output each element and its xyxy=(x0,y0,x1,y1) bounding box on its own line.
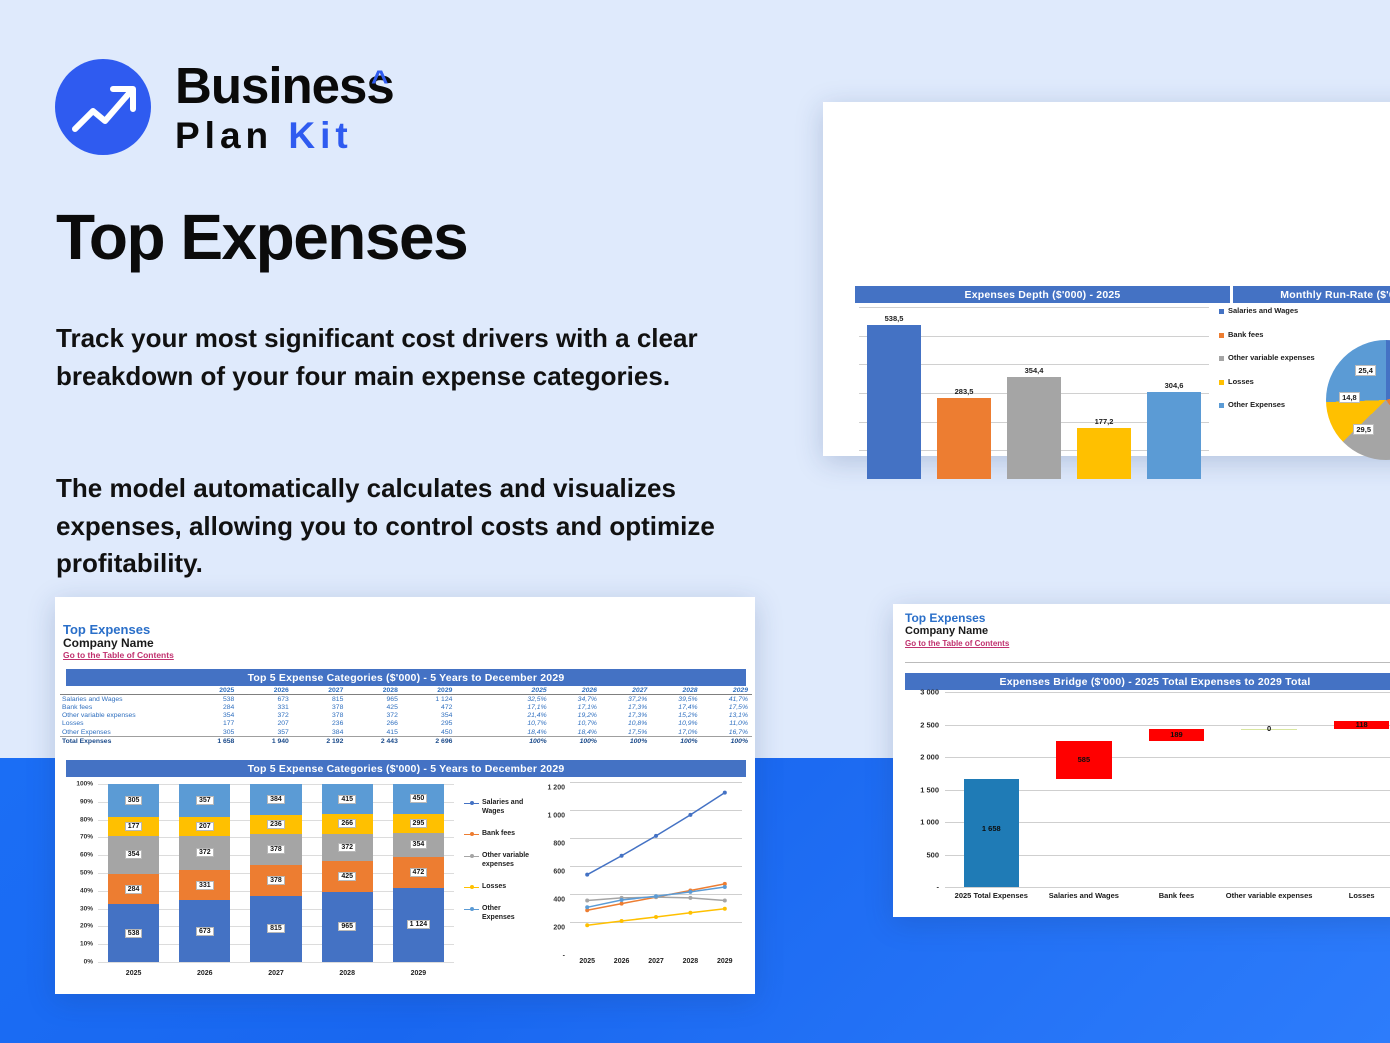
stack-segment: 673 xyxy=(179,900,230,962)
arrow-trend-up-icon xyxy=(55,59,151,155)
table-row: Losses17720723626629510,7%10,7%10,8%10,9… xyxy=(60,720,752,728)
gridline xyxy=(859,307,1209,308)
legend-swatch xyxy=(464,831,479,838)
legend-label: Salaries and Wages xyxy=(482,798,534,816)
table-cell-pct: 17,0% xyxy=(651,728,701,737)
circumflex-accent-icon: ^ xyxy=(371,54,388,110)
table-cell-pct: 16,7% xyxy=(702,728,752,737)
segment-value-label: 357 xyxy=(196,796,214,805)
expenses-depth-plot: 538,5283,5354,4177,2304,6 xyxy=(859,307,1209,479)
legend-item: Other Expenses xyxy=(1219,400,1324,410)
table-cell: 673 xyxy=(240,695,295,704)
axis-tick-label: 2025 Total Expenses xyxy=(945,891,1038,900)
brand-name-accent: Kit xyxy=(288,115,352,156)
table-cell: 425 xyxy=(349,703,404,711)
table-cell: 378 xyxy=(295,712,350,720)
table-cell-pct: 100% xyxy=(551,737,601,746)
axis-tick-label: 1 000 xyxy=(920,818,939,827)
axis-tick-label: 2 000 xyxy=(920,753,939,762)
table-cell: 354 xyxy=(404,712,459,720)
stack-segment: 450 xyxy=(393,784,444,814)
stacked-plot-area: 5382843541773052025673331372207357202681… xyxy=(98,784,454,962)
table-col-header: 2027 xyxy=(601,686,651,695)
table-cell-pct: 39,5% xyxy=(651,695,701,704)
expenses-depth-legend: Salaries and WagesBank feesOther variabl… xyxy=(1219,306,1324,424)
hero-paragraph-2: The model automatically calculates and v… xyxy=(56,470,736,583)
bar-value-label: 177,2 xyxy=(1069,417,1139,426)
stack-segment: 472 xyxy=(393,857,444,888)
segment-value-label: 372 xyxy=(196,848,214,857)
stack-segment: 1 124 xyxy=(393,888,444,962)
legend-swatch xyxy=(464,906,479,913)
legend-swatch xyxy=(1219,333,1224,338)
axis-tick-label: 2029 xyxy=(708,958,742,965)
bar-value-label: 304,6 xyxy=(1139,381,1209,390)
table-cell: 384 xyxy=(295,728,350,737)
stack-segment: 357 xyxy=(179,784,230,817)
expenses-bridge-chart-title: Expenses Bridge ($'000) - 2025 Total Exp… xyxy=(905,673,1390,690)
table-total-row: Total Expenses1 6581 9402 1922 4432 6961… xyxy=(60,737,752,746)
axis-tick-label: 30% xyxy=(80,905,93,912)
table-cell-pct: 17,5% xyxy=(702,703,752,711)
row-label: Total Expenses xyxy=(60,737,186,746)
axis-tick-label: Other variable expenses xyxy=(1223,891,1316,900)
gridline xyxy=(945,757,1390,758)
table-cell: 354 xyxy=(186,712,241,720)
table-cell: 372 xyxy=(349,712,404,720)
stacked-column: 815378378236384 xyxy=(250,784,301,962)
segment-value-label: 1 124 xyxy=(407,920,431,929)
legend-label: Other Expenses xyxy=(1228,400,1285,410)
sheet-company-right: Company Name xyxy=(905,625,988,637)
segment-value-label: 354 xyxy=(125,850,143,859)
legend-swatch xyxy=(1219,403,1224,408)
stack-segment: 236 xyxy=(250,815,301,834)
axis-tick-label: 600 xyxy=(553,869,565,876)
pie-slice-label: 25,4 xyxy=(1355,365,1376,376)
legend-swatch xyxy=(464,884,479,891)
segment-value-label: 673 xyxy=(196,927,214,936)
stack-segment: 378 xyxy=(250,865,301,896)
bar-value-label: 538,5 xyxy=(859,314,929,323)
line-plot-area: 20252026202720282029 xyxy=(570,782,742,950)
pie-slice-label: 29,5 xyxy=(1353,424,1374,435)
stack-segment: 538 xyxy=(108,904,159,962)
table-cell-pct: 34,7% xyxy=(551,695,601,704)
table-cell-pct: 100% xyxy=(702,737,752,746)
table-cell-pct: 100% xyxy=(651,737,701,746)
stacked-y-axis: 0%10%20%30%40%50%60%70%80%90%100% xyxy=(62,780,96,962)
row-label: Other variable expenses xyxy=(60,712,186,720)
legend-label: Losses xyxy=(482,882,506,891)
table-col-header: 2026 xyxy=(240,686,295,695)
table-cell: 331 xyxy=(240,703,295,711)
table-cell: 372 xyxy=(240,712,295,720)
bar xyxy=(937,398,990,479)
segment-value-label: 177 xyxy=(125,822,143,831)
table-col-header: 2027 xyxy=(295,686,350,695)
legend-item: Salaries and Wages xyxy=(1219,306,1324,316)
legend-item: Bank fees xyxy=(1219,330,1324,340)
table-cell-pct: 19,2% xyxy=(551,712,601,720)
stacked-column: 1 124472354295450 xyxy=(393,784,444,962)
axis-tick-label: 40% xyxy=(80,887,93,894)
legend-item: Other variable expenses xyxy=(1219,353,1324,363)
stack-segment: 425 xyxy=(322,861,373,892)
segment-value-label: 207 xyxy=(196,822,214,831)
axis-tick-label: 2025 xyxy=(570,958,604,965)
legend-swatch xyxy=(464,853,479,860)
axis-tick-label: 2 500 xyxy=(920,720,939,729)
segment-value-label: 354 xyxy=(410,840,428,849)
table-cell: 472 xyxy=(404,703,459,711)
axis-tick-label: 800 xyxy=(553,841,565,848)
axis-tick-label: Salaries and Wages xyxy=(1038,891,1131,900)
table-row: Other Expenses30535738441545018,4%18,4%1… xyxy=(60,728,752,737)
stack-segment: 266 xyxy=(322,814,373,833)
segment-value-label: 295 xyxy=(410,819,428,828)
segment-value-label: 384 xyxy=(267,795,285,804)
top5-stacked-chart: 0%10%20%30%40%50%60%70%80%90%100% 538284… xyxy=(62,780,462,980)
segment-value-label: 472 xyxy=(410,868,428,877)
table-col-header: 2028 xyxy=(349,686,404,695)
table-cell-pct: 41,7% xyxy=(702,695,752,704)
axis-tick-label: Losses xyxy=(1315,891,1390,900)
waterfall-value-label: 585 xyxy=(1038,755,1131,764)
line-series-svg xyxy=(570,782,742,950)
stack-segment: 415 xyxy=(322,784,373,814)
legend-label: Bank fees xyxy=(1228,330,1263,340)
table-cell-pct: 17,1% xyxy=(500,703,550,711)
segment-value-label: 538 xyxy=(125,929,143,938)
waterfall-value-label: 0 xyxy=(1223,724,1316,733)
table-cell: 236 xyxy=(295,720,350,728)
table-cell-pct: 17,3% xyxy=(601,712,651,720)
segment-value-label: 378 xyxy=(267,876,285,885)
legend-item: Salaries and Wages xyxy=(464,798,534,816)
row-label: Other Expenses xyxy=(60,728,186,737)
legend-label: Other Expenses xyxy=(482,904,534,922)
table-cell-pct: 17,4% xyxy=(651,703,701,711)
axis-tick-label: 1 500 xyxy=(920,785,939,794)
axis-tick-label: Bank fees xyxy=(1130,891,1223,900)
table-cell: 266 xyxy=(349,720,404,728)
stack-segment: 815 xyxy=(250,896,301,962)
stack-segment: 177 xyxy=(108,817,159,836)
bar xyxy=(1077,428,1130,479)
sheet-company-left: Company Name xyxy=(63,636,154,650)
axis-tick-label: 70% xyxy=(80,834,93,841)
legend-label: Salaries and Wages xyxy=(1228,306,1298,316)
segment-value-label: 815 xyxy=(267,924,285,933)
table-col-header: 2029 xyxy=(404,686,459,695)
top5-line-chart: Salaries and WagesBank feesOther variabl… xyxy=(462,776,750,984)
stack-segment: 372 xyxy=(179,836,230,870)
segment-value-label: 236 xyxy=(267,820,285,829)
table-cell: 305 xyxy=(186,728,241,737)
axis-tick-label: 50% xyxy=(80,870,93,877)
table-cell-pct: 10,9% xyxy=(651,720,701,728)
stack-segment: 305 xyxy=(108,784,159,817)
monthly-run-rate-pie: 44,923,629,514,825,4 xyxy=(1326,340,1390,460)
expenses-bridge-chart: -5001 0001 5002 0002 5003 000 1 6582025 … xyxy=(903,692,1390,910)
table-cell-pct: 15,2% xyxy=(651,712,701,720)
row-label: Losses xyxy=(60,720,186,728)
table-cell: 378 xyxy=(295,703,350,711)
page-title: Top Expenses xyxy=(56,200,467,274)
top5-table-title: Top 5 Expense Categories ($'000) - 5 Yea… xyxy=(66,669,746,686)
segment-value-label: 425 xyxy=(338,872,356,881)
axis-tick-label: 3 000 xyxy=(920,688,939,697)
axis-tick-label: - xyxy=(563,953,565,960)
legend-swatch xyxy=(1219,380,1224,385)
axis-tick-label: 2027 xyxy=(240,970,311,977)
axis-tick-label: 200 xyxy=(553,925,565,932)
axis-tick-label: 2029 xyxy=(383,970,454,977)
table-cell: 415 xyxy=(349,728,404,737)
table-row: Bank fees28433137842547217,1%17,1%17,3%1… xyxy=(60,703,752,711)
table-cell: 1 940 xyxy=(240,737,295,746)
bar xyxy=(1147,392,1200,479)
table-cell: 284 xyxy=(186,703,241,711)
table-cell: 1 124 xyxy=(404,695,459,704)
table-cell-pct: 18,4% xyxy=(551,728,601,737)
axis-tick-label: 2026 xyxy=(169,970,240,977)
toc-link-left[interactable]: Go to the Table of Contents xyxy=(63,650,174,660)
top5-stacked-chart-title: Top 5 Expense Categories ($'000) - 5 Yea… xyxy=(66,760,746,777)
stacked-column: 538284354177305 xyxy=(108,784,159,962)
segment-value-label: 305 xyxy=(125,796,143,805)
segment-value-label: 372 xyxy=(338,843,356,852)
sheet-title-right: Top Expenses xyxy=(905,611,985,625)
table-cell: 357 xyxy=(240,728,295,737)
table-cell: 450 xyxy=(404,728,459,737)
stack-segment: 378 xyxy=(250,834,301,865)
table-cell: 538 xyxy=(186,695,241,704)
axis-tick-label: 2027 xyxy=(639,958,673,965)
segment-value-label: 284 xyxy=(125,885,143,894)
legend-item: Losses xyxy=(1219,377,1324,387)
table-col-header: 2025 xyxy=(186,686,241,695)
bar xyxy=(1007,377,1060,479)
stack-segment: 354 xyxy=(393,833,444,856)
axis-tick-label: 1 200 xyxy=(547,785,565,792)
bridge-plot-area: 1 6582025 Total Expenses585Salaries and … xyxy=(945,692,1390,887)
table-cell-pct: 21,4% xyxy=(500,712,550,720)
gridline xyxy=(945,692,1390,693)
stack-segment: 284 xyxy=(108,874,159,904)
legend-item: Other Expenses xyxy=(464,904,534,922)
legend-item: Bank fees xyxy=(464,829,534,838)
axis-tick-label: - xyxy=(937,883,940,892)
table-cell-pct: 100% xyxy=(601,737,651,746)
sheet-title-left: Top Expenses xyxy=(63,622,150,637)
table-cell-pct: 17,5% xyxy=(601,728,651,737)
table-cell-pct: 100% xyxy=(500,737,550,746)
table-row: Other variable expenses35437237837235421… xyxy=(60,712,752,720)
toc-link-right[interactable]: Go to the Table of Contents xyxy=(905,639,1009,648)
axis-tick-label: 90% xyxy=(80,798,93,805)
monthly-run-rate-chart-title: Monthly Run-Rate ($'000) xyxy=(1233,286,1390,303)
table-cell: 295 xyxy=(404,720,459,728)
axis-tick-label: 2026 xyxy=(604,958,638,965)
axis-tick-label: 0% xyxy=(84,959,93,966)
bridge-y-axis: -5001 0001 5002 0002 5003 000 xyxy=(903,692,943,887)
stack-segment: 295 xyxy=(393,814,444,833)
table-cell: 815 xyxy=(295,695,350,704)
row-label: Bank fees xyxy=(60,703,186,711)
waterfall-value-label: 1 658 xyxy=(945,824,1038,833)
axis-tick-label: 400 xyxy=(553,897,565,904)
segment-value-label: 450 xyxy=(410,794,428,803)
legend-swatch xyxy=(1219,309,1224,314)
stacked-column: 965425372266415 xyxy=(322,784,373,962)
gridline xyxy=(945,887,1390,888)
stack-segment: 965 xyxy=(322,892,373,962)
hero-paragraph-1: Track your most significant cost drivers… xyxy=(56,320,736,395)
axis-tick-label: 2028 xyxy=(673,958,707,965)
table-cell-pct: 10,8% xyxy=(601,720,651,728)
segment-value-label: 965 xyxy=(338,922,356,931)
stacked-column: 673331372207357 xyxy=(179,784,230,962)
axis-tick-label: 2028 xyxy=(312,970,383,977)
legend-label: Bank fees xyxy=(482,829,515,838)
gridline xyxy=(98,962,454,963)
table-row: Salaries and Wages5386738159651 12432,5%… xyxy=(60,695,752,704)
table-cell: 2 192 xyxy=(295,737,350,746)
table-cell-pct: 10,7% xyxy=(551,720,601,728)
table-col-header: 2025 xyxy=(500,686,550,695)
legend-label: Other variable expenses xyxy=(1228,353,1315,363)
bar-value-label: 283,5 xyxy=(929,387,999,396)
stack-segment: 354 xyxy=(108,836,159,874)
row-label: Salaries and Wages xyxy=(60,695,186,704)
top5-expense-table: 2025202620272028202920252026202720282029… xyxy=(60,686,752,745)
table-cell-pct: 18,4% xyxy=(500,728,550,737)
table-cell-pct: 10,7% xyxy=(500,720,550,728)
line-chart-legend: Salaries and WagesBank feesOther variabl… xyxy=(464,798,534,935)
waterfall-value-label: 189 xyxy=(1130,730,1223,739)
brand-name-line2: Plan Kit xyxy=(175,114,394,158)
stack-segment: 384 xyxy=(250,784,301,815)
sheet-divider xyxy=(905,662,1390,663)
stack-segment: 372 xyxy=(322,834,373,861)
table-col-header: 2029 xyxy=(702,686,752,695)
table-cell: 2 443 xyxy=(349,737,404,746)
table-cell: 1 658 xyxy=(186,737,241,746)
segment-value-label: 415 xyxy=(338,795,356,804)
axis-tick-label: 2025 xyxy=(98,970,169,977)
segment-value-label: 378 xyxy=(267,845,285,854)
legend-swatch xyxy=(1219,356,1224,361)
table-cell-pct: 13,1% xyxy=(702,712,752,720)
stack-segment: 207 xyxy=(179,817,230,836)
legend-item: Other variable expenses xyxy=(464,851,534,869)
brand-name-line1: Business ^ xyxy=(175,58,394,114)
expenses-depth-chart-title: Expenses Depth ($'000) - 2025 xyxy=(855,286,1230,303)
legend-swatch xyxy=(464,800,479,807)
axis-tick-label: 80% xyxy=(80,816,93,823)
axis-tick-label: 1 000 xyxy=(547,813,565,820)
axis-tick-label: 100% xyxy=(76,781,93,788)
axis-tick-label: 500 xyxy=(926,850,939,859)
expenses-depth-card: Expenses Depth ($'000) - 2025 Monthly Ru… xyxy=(823,102,1390,456)
table-cell: 965 xyxy=(349,695,404,704)
table-col-header: 2028 xyxy=(651,686,701,695)
legend-item: Losses xyxy=(464,882,534,891)
axis-tick-label: 10% xyxy=(80,941,93,948)
table-cell-pct: 37,2% xyxy=(601,695,651,704)
waterfall-value-label: 118 xyxy=(1315,720,1390,729)
table-cell-pct: 32,5% xyxy=(500,695,550,704)
table-cell-pct: 11,0% xyxy=(702,720,752,728)
table-cell: 177 xyxy=(186,720,241,728)
table-cell-pct: 17,3% xyxy=(601,703,651,711)
legend-label: Other variable expenses xyxy=(482,851,534,869)
stack-segment: 331 xyxy=(179,870,230,900)
axis-tick-label: 20% xyxy=(80,923,93,930)
line-y-axis: -2004006008001 0001 200 xyxy=(534,782,568,950)
table-col-header: 2026 xyxy=(551,686,601,695)
segment-value-label: 266 xyxy=(338,819,356,828)
legend-label: Losses xyxy=(1228,377,1254,387)
table-cell: 207 xyxy=(240,720,295,728)
axis-tick-label: 60% xyxy=(80,852,93,859)
table-cell: 2 696 xyxy=(404,737,459,746)
bar xyxy=(867,325,920,479)
table-cell-pct: 17,1% xyxy=(551,703,601,711)
pie-slice-label: 14,8 xyxy=(1339,392,1360,403)
bar-value-label: 354,4 xyxy=(999,366,1069,375)
segment-value-label: 331 xyxy=(196,881,214,890)
brand-logo: Business ^ Plan Kit xyxy=(55,52,455,162)
